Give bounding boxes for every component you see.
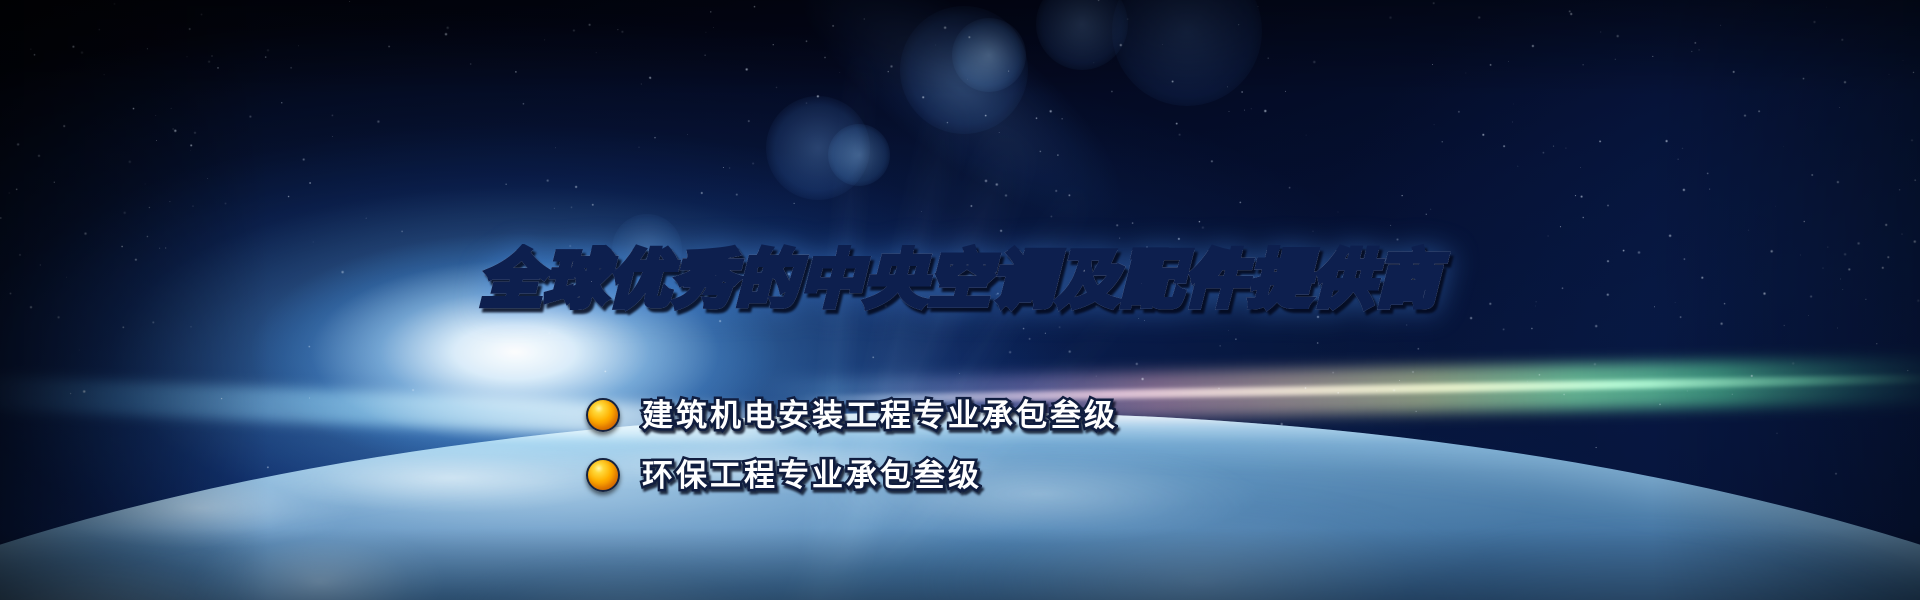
banner-content: 全球优秀的中央空调及配件提供商 建筑机电安装工程专业承包叁级 环保工程专业承包叁… <box>0 0 1920 600</box>
orange-bullet-dot-icon <box>586 398 620 432</box>
orange-bullet-dot-icon <box>586 458 620 492</box>
credential-label: 建筑机电安装工程专业承包叁级 <box>642 400 1118 431</box>
credential-label: 环保工程专业承包叁级 <box>642 460 982 491</box>
hero-banner: 全球优秀的中央空调及配件提供商 建筑机电安装工程专业承包叁级 环保工程专业承包叁… <box>0 0 1920 600</box>
page-title: 全球优秀的中央空调及配件提供商 <box>0 250 1920 312</box>
credential-list: 建筑机电安装工程专业承包叁级 环保工程专业承包叁级 <box>0 388 1920 508</box>
list-item: 环保工程专业承包叁级 <box>0 448 1920 502</box>
list-item: 建筑机电安装工程专业承包叁级 <box>0 388 1920 442</box>
